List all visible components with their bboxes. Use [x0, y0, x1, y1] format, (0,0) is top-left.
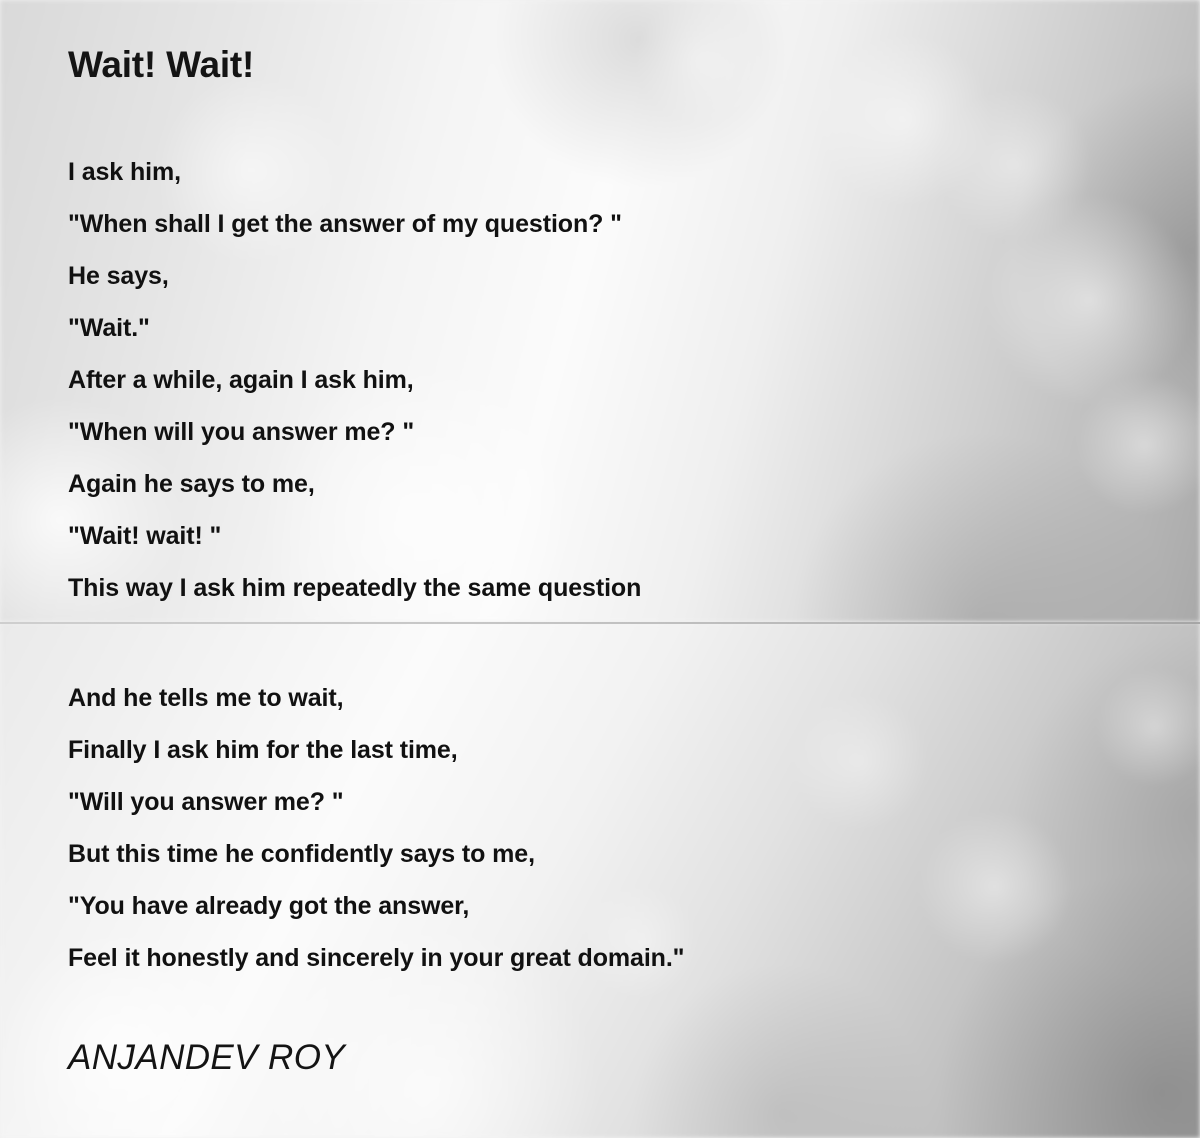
poem-line: This way I ask him repeatedly the same q… — [68, 574, 641, 603]
poem-line: "When shall I get the answer of my quest… — [68, 210, 622, 239]
poem-line: "Wait." — [68, 314, 150, 343]
poem-line: And he tells me to wait, — [68, 684, 343, 713]
poem-page: Wait! Wait! I ask him, "When shall I get… — [0, 0, 1200, 1138]
page-title: Wait! Wait! — [68, 44, 254, 86]
panel-seam-divider — [0, 622, 1200, 624]
poem-line: After a while, again I ask him, — [68, 366, 414, 395]
poem-author-signature: ANJANDEV ROY — [68, 1038, 345, 1078]
poem-line: "Wait! wait! " — [68, 522, 221, 551]
poem-line: He says, — [68, 262, 169, 291]
poem-line: Feel it honestly and sincerely in your g… — [68, 944, 684, 973]
poem-line: "Will you answer me? " — [68, 788, 344, 817]
poem-line: Finally I ask him for the last time, — [68, 736, 458, 765]
poem-line: "You have already got the answer, — [68, 892, 469, 921]
poem-image-panel-top: Wait! Wait! I ask him, "When shall I get… — [0, 0, 1200, 622]
poem-line: Again he says to me, — [68, 470, 315, 499]
poem-image-panel-bottom: And he tells me to wait, Finally I ask h… — [0, 622, 1200, 1138]
poem-line: "When will you answer me? " — [68, 418, 414, 447]
poem-line: I ask him, — [68, 158, 181, 187]
poem-line: But this time he confidently says to me, — [68, 840, 535, 869]
